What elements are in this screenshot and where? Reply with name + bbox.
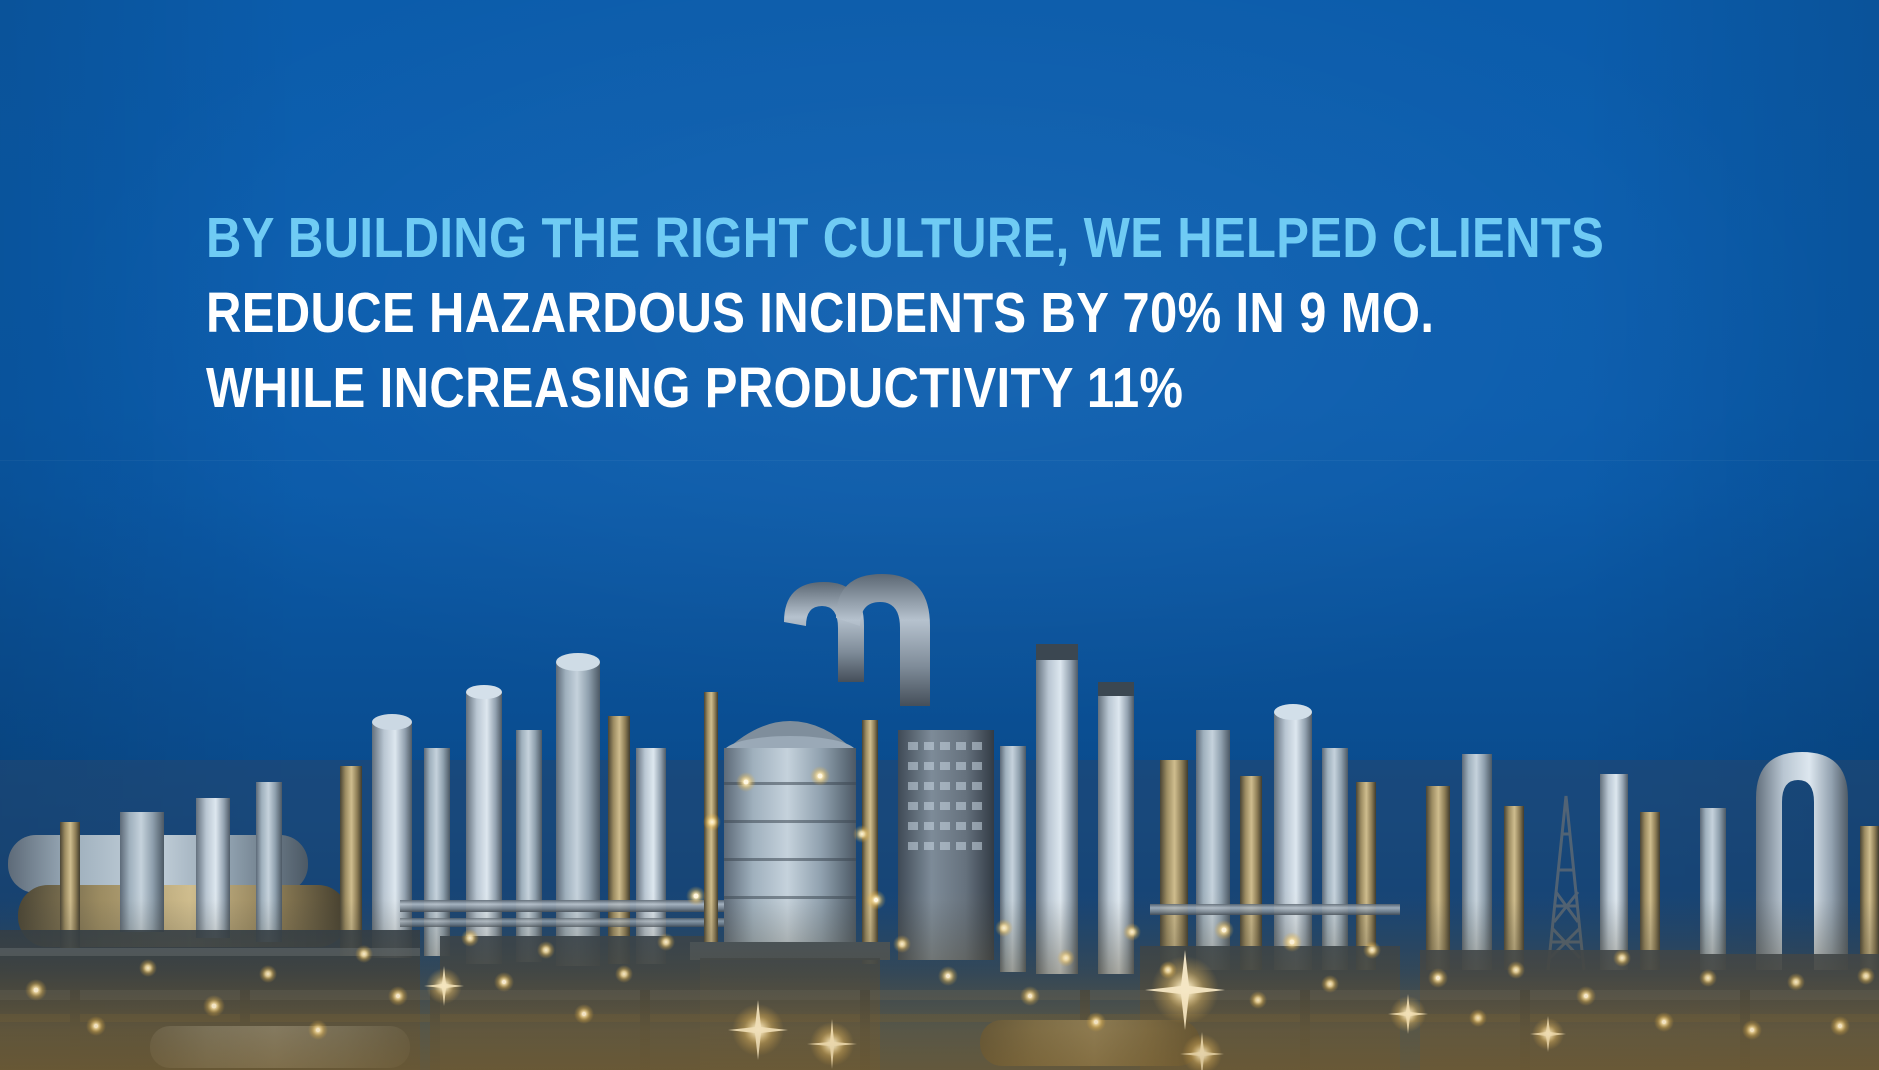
headline-line-1: BY BUILDING THE RIGHT CULTURE, WE HELPED… <box>206 210 1496 267</box>
slide-canvas: BY BUILDING THE RIGHT CULTURE, WE HELPED… <box>0 0 1879 1070</box>
headline-line-3: WHILE INCREASING PRODUCTIVITY 11% <box>206 360 1496 417</box>
refinery-photo <box>0 430 1879 1070</box>
headline-block: BY BUILDING THE RIGHT CULTURE, WE HELPED… <box>206 210 1706 417</box>
headline-line-2: REDUCE HAZARDOUS INCIDENTS BY 70% IN 9 M… <box>206 285 1496 342</box>
